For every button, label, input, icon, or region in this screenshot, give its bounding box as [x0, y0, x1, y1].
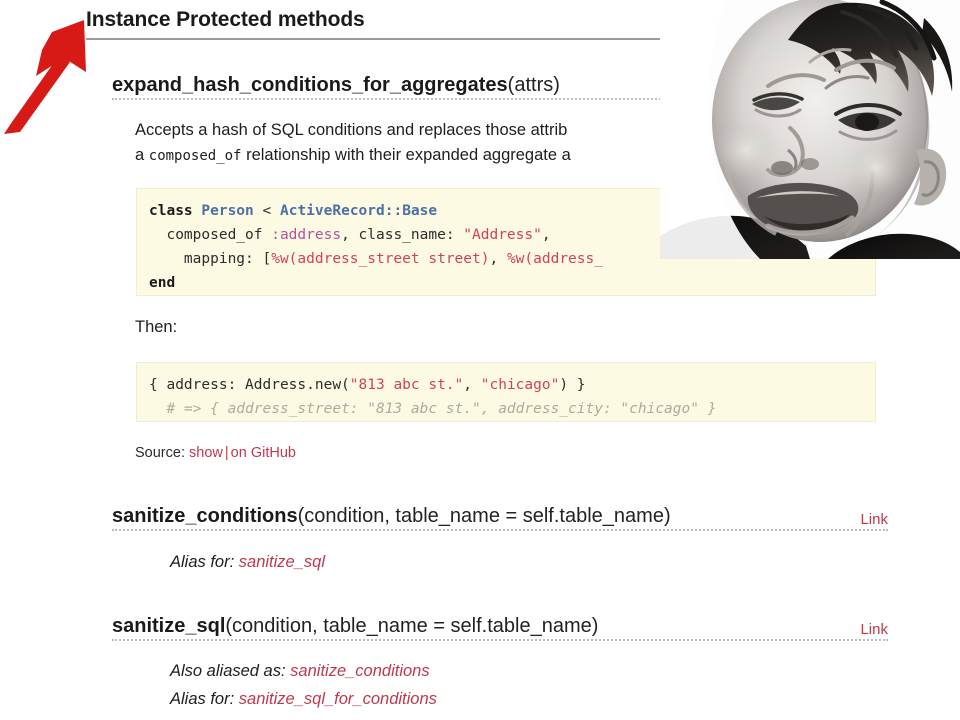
code-op-lt: < [254, 203, 280, 219]
then-label: Then: [135, 315, 177, 339]
documentation-page: Instance Protected methods expand_hash_c… [0, 0, 960, 720]
method-divider [112, 529, 888, 531]
alias-list-sanitize-sql: Also aliased as: sanitize_conditions Ali… [170, 657, 437, 713]
source-show-link[interactable]: show [189, 445, 223, 461]
alias-list-sanitize-conditions: Alias for: sanitize_sql [170, 548, 325, 576]
code-comma-2: , [489, 251, 506, 267]
description-text-2b: relationship with their expanded aggrega… [241, 146, 570, 164]
page-title: Instance Protected methods [86, 6, 664, 34]
code-result-comment: # => { address_street: "813 abc st.", ad… [149, 401, 716, 417]
source-separator: | [223, 445, 231, 461]
method-name: sanitize_conditions [112, 505, 298, 527]
method-permalink[interactable]: Link [860, 621, 888, 638]
alias-label: Alias for: [170, 553, 234, 571]
code-comma-1: , [542, 227, 551, 243]
code-class-base: ActiveRecord::Base [280, 203, 437, 219]
code-wordlist-city: %w(address_ [507, 251, 603, 267]
section-heading-rule [86, 38, 664, 40]
code-result-close: ) } [559, 377, 585, 393]
inline-code-composed-of: composed_of [149, 148, 242, 164]
alias-line: Alias for: sanitize_sql [170, 548, 325, 576]
alias-line: Also aliased as: sanitize_conditions [170, 657, 437, 685]
code-keyword-class: class [149, 203, 193, 219]
description-line-1: Accepts a hash of SQL conditions and rep… [135, 118, 695, 143]
method-block-sanitize-conditions: sanitize_conditions(condition, table_nam… [112, 503, 888, 531]
method-block-sanitize-sql: sanitize_sql(condition, table_name = sel… [112, 613, 888, 641]
method-args: (attrs) [508, 74, 560, 96]
description-line-2: a composed_of relationship with their ex… [135, 143, 695, 169]
method-description: Accepts a hash of SQL conditions and rep… [135, 118, 695, 169]
alias-line: Alias for: sanitize_sql_for_conditions [170, 685, 437, 713]
code-string-address: "Address" [463, 227, 542, 243]
code-composed-of-call: composed_of [149, 227, 271, 243]
code-result-comma: , [463, 377, 480, 393]
method-signature: sanitize_conditions(condition, table_nam… [112, 503, 888, 529]
code-result-city-string: "chicago" [481, 377, 560, 393]
code-keyword-end: end [149, 275, 175, 291]
source-links: Source: show|on GitHub [135, 442, 296, 464]
method-args: (condition, table_name = self.table_name… [298, 505, 671, 527]
code-result-open: { address: Address.new( [149, 377, 350, 393]
section-heading-container: Instance Protected methods [86, 6, 664, 34]
alias-target-link[interactable]: sanitize_sql_for_conditions [239, 690, 437, 708]
method-permalink[interactable]: Link [860, 511, 888, 528]
source-github-link[interactable]: on GitHub [231, 445, 296, 461]
alias-label: Alias for: [170, 690, 234, 708]
method-divider [112, 639, 888, 641]
code-result-street-string: "813 abc st." [350, 377, 464, 393]
alias-label: Also aliased as: [170, 662, 286, 680]
method-name: sanitize_sql [112, 615, 225, 637]
code-class-name-key: , class_name: [341, 227, 463, 243]
source-label: Source: [135, 445, 185, 461]
crying-baby-photo [660, 0, 960, 259]
method-args: (condition, table_name = self.table_name… [225, 615, 598, 637]
code-class-person: Person [201, 203, 253, 219]
code-example-result: { address: Address.new("813 abc st.", "c… [136, 362, 876, 422]
method-signature: sanitize_sql(condition, table_name = sel… [112, 613, 888, 639]
code-mapping-key: mapping: [ [149, 251, 271, 267]
code-wordlist-street: %w(address_street street) [271, 251, 489, 267]
alias-target-link[interactable]: sanitize_conditions [290, 662, 429, 680]
code-symbol-address: :address [271, 227, 341, 243]
description-text-2a: a [135, 146, 149, 164]
alias-target-link[interactable]: sanitize_sql [239, 553, 325, 571]
method-name: expand_hash_conditions_for_aggregates [112, 74, 508, 96]
description-text-1: Accepts a hash of SQL conditions and rep… [135, 121, 567, 139]
